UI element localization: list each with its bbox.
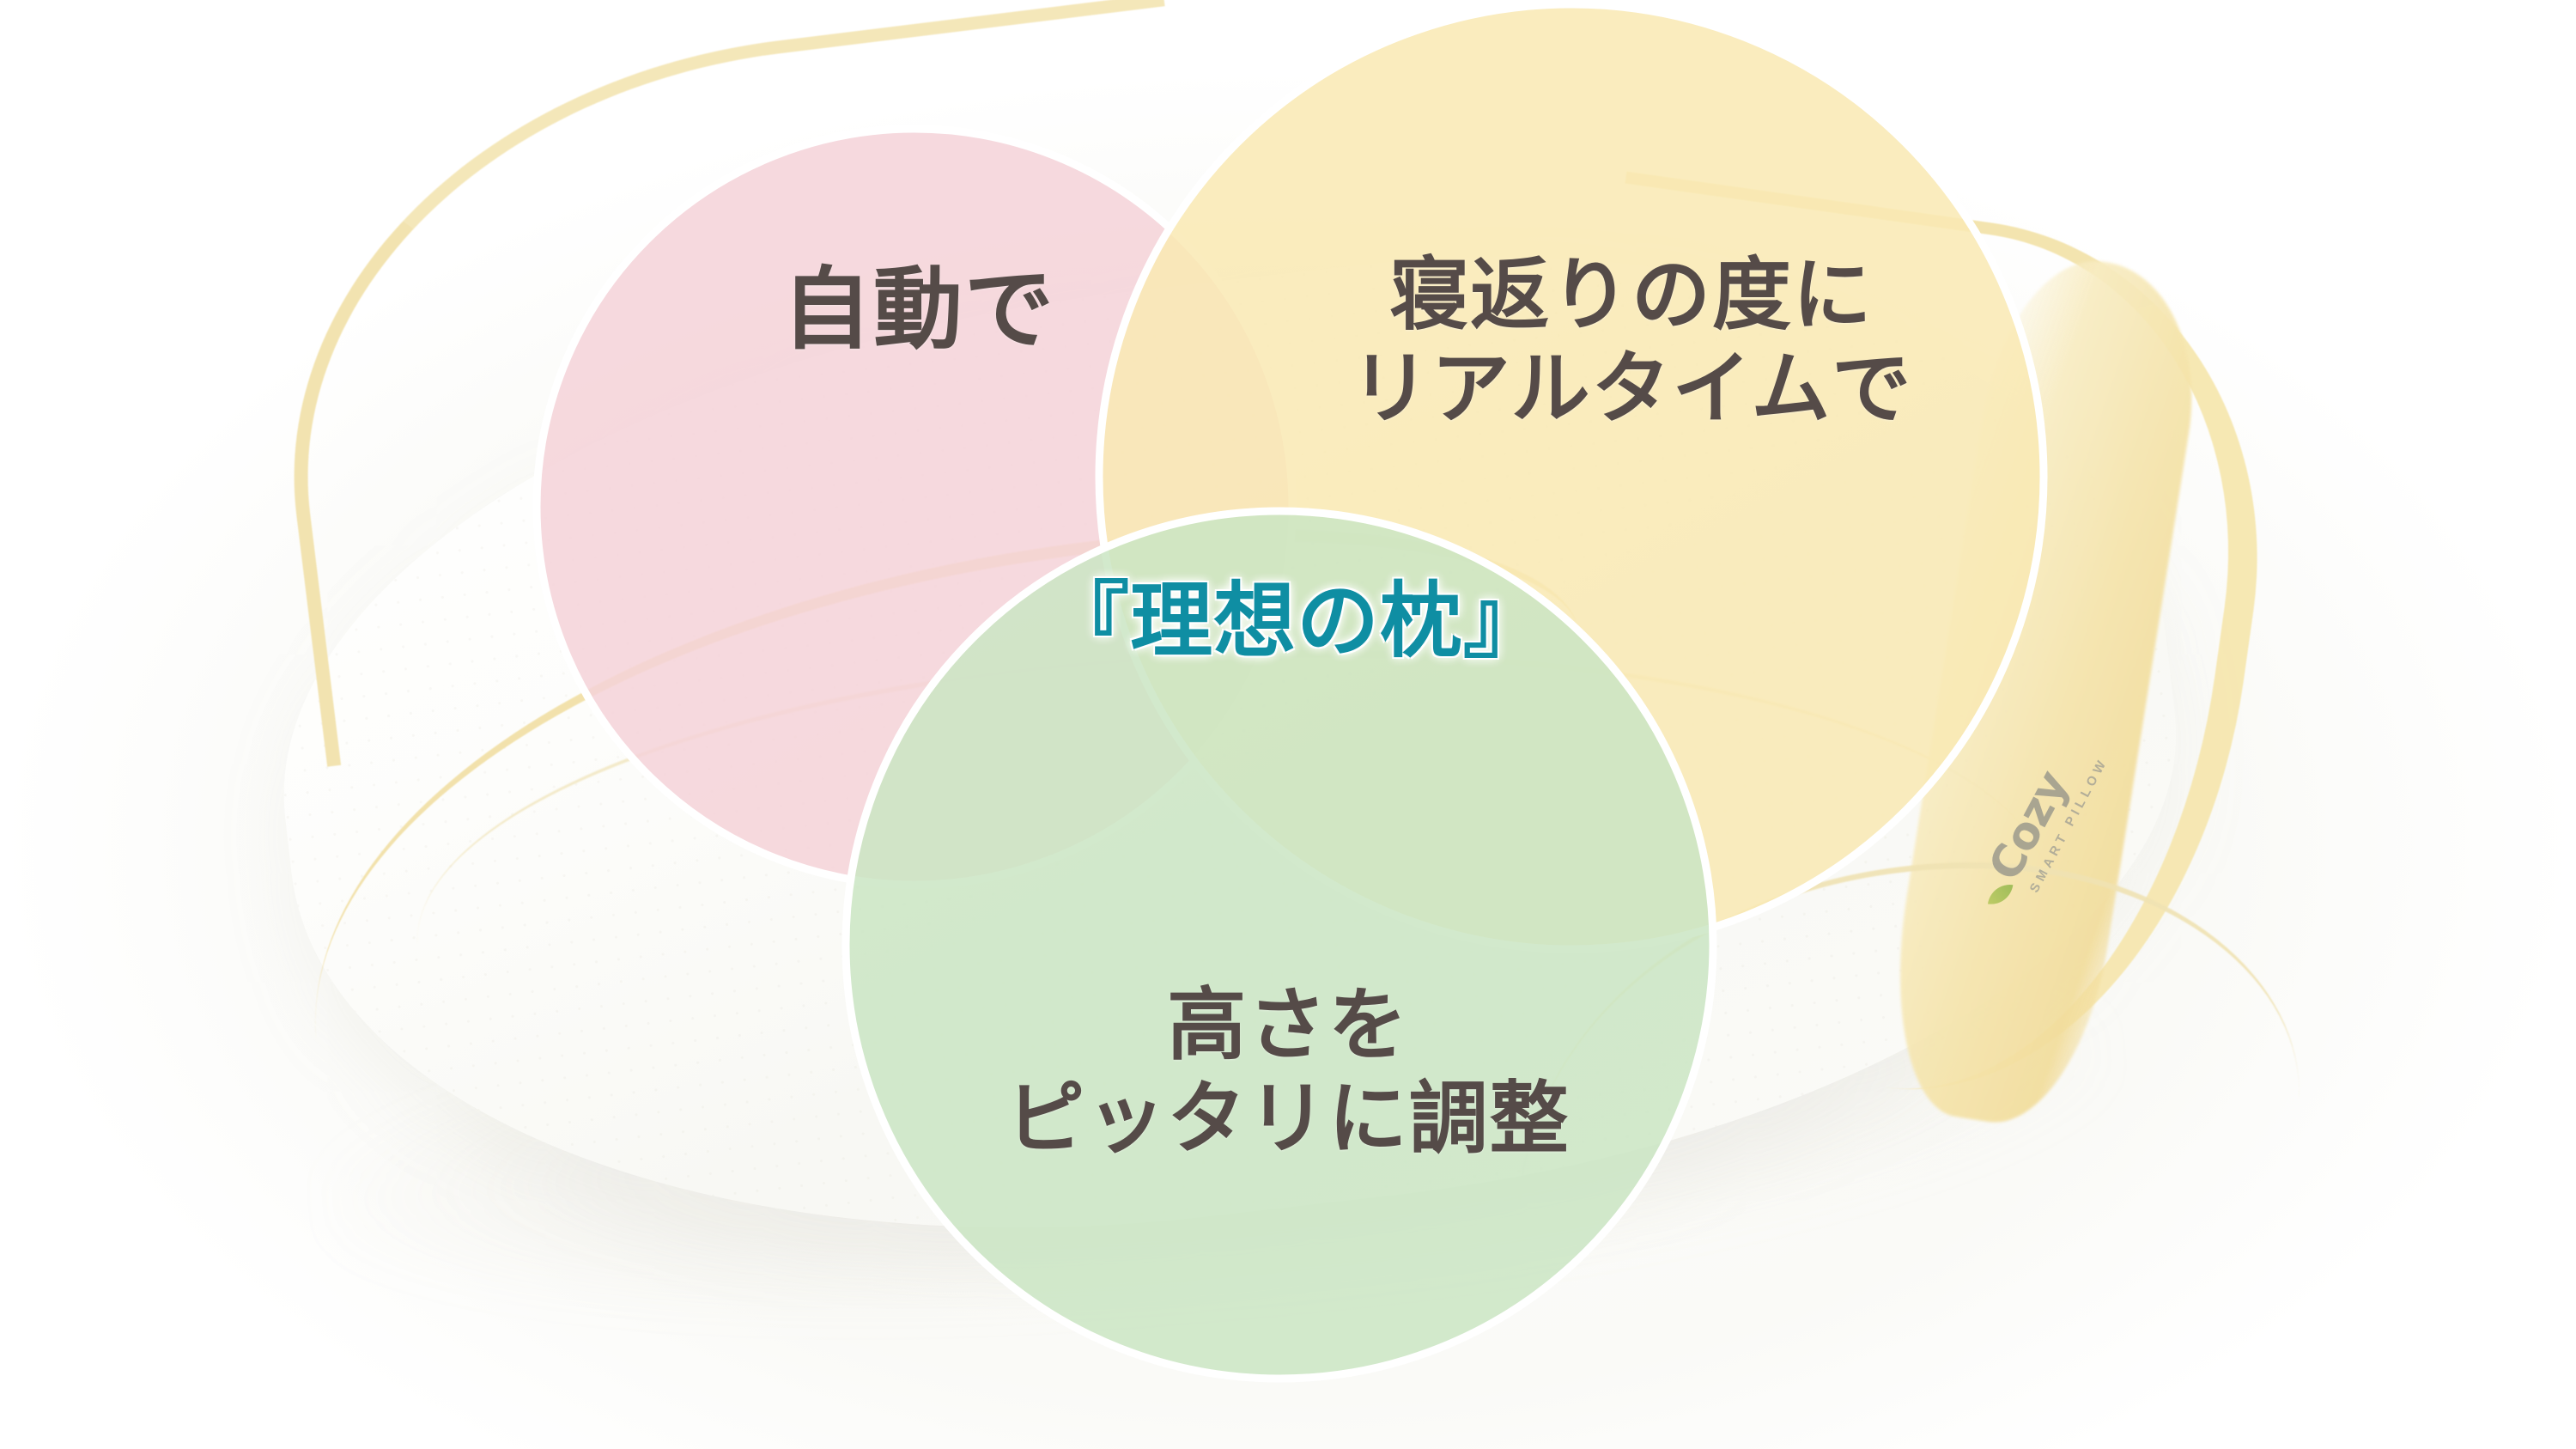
- venn-circles: [537, 4, 2044, 1379]
- venn-label-height: 高さを ピッタリに調整: [867, 979, 1709, 1166]
- venn-center-label: 『理想の枕』: [919, 554, 1674, 673]
- venn-diagram: [0, 0, 2576, 1449]
- slide-canvas: Cozy SMART PILLOW 自動で 寝返りの度に リアルタイムで 高さを…: [0, 0, 2576, 1449]
- venn-label-realtime: 寝返りの度に リアルタイムで: [1262, 249, 2001, 435]
- venn-label-auto: 自動で: [653, 258, 1185, 363]
